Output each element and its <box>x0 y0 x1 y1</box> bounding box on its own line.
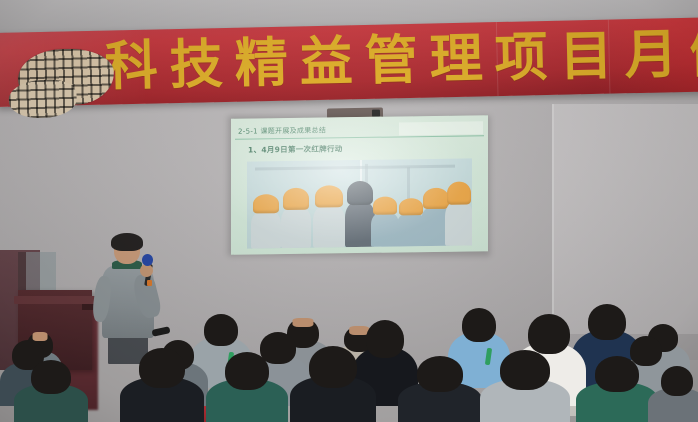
hard-hat-icon <box>347 181 373 205</box>
audience <box>0 300 698 422</box>
slide-worker-body <box>371 212 399 246</box>
hard-hat-icon <box>399 198 423 216</box>
audience-member <box>120 348 204 422</box>
audience-head <box>139 348 185 388</box>
slide-worker-body <box>313 205 345 248</box>
hard-hat-icon <box>253 194 279 214</box>
audience-head <box>417 356 463 392</box>
audience-member <box>206 352 288 422</box>
audience-head <box>528 314 570 354</box>
audience-head <box>595 356 639 392</box>
hard-hat-icon <box>283 188 309 210</box>
microphone-tip <box>147 280 152 286</box>
audience-member <box>648 366 698 422</box>
slide-title: 2-5-1 课题开展及成果总结 <box>238 124 326 137</box>
audience-head <box>500 350 550 390</box>
slide-worker-body <box>281 207 311 248</box>
audience-head <box>309 346 357 388</box>
audience-head <box>225 352 269 390</box>
slide: 2-5-1 课题开展及成果总结 1、4月9日第一次红牌行动 <box>231 115 488 255</box>
slide-subtitle: 1、4月9日第一次红牌行动 <box>248 143 343 156</box>
hard-hat-icon <box>315 185 343 208</box>
audience-member <box>480 350 570 422</box>
slide-worker <box>315 185 343 247</box>
audience-member <box>290 346 376 422</box>
audience-head <box>204 314 238 346</box>
hard-hat-icon <box>373 196 397 214</box>
slide-worker <box>447 181 471 245</box>
slide-worker <box>283 188 309 248</box>
slide-title-box <box>399 121 483 135</box>
banner-title: 科技精益管理项目月例会 <box>104 18 698 104</box>
audience-head <box>661 366 693 396</box>
slide-worker <box>373 196 397 246</box>
audience-member <box>398 356 482 422</box>
slide-worker-body <box>445 202 472 246</box>
audience-head <box>31 360 71 394</box>
audience-head <box>588 304 626 340</box>
slide-worker <box>399 198 423 246</box>
audience-member <box>576 356 658 422</box>
meeting-photo: 科技精益管理项目月例会 2-5-1 课题开展及成果总结 1、4月9日第一次红牌行… <box>0 0 698 422</box>
hard-hat-icon <box>447 181 471 204</box>
slide-worker <box>253 194 279 248</box>
projection-screen: 2-5-1 课题开展及成果总结 1、4月9日第一次红牌行动 <box>231 115 488 255</box>
pipe <box>255 165 455 171</box>
slide-worker-body <box>251 211 281 248</box>
microphone-icon <box>142 254 153 266</box>
slide-photo <box>247 158 472 248</box>
hard-hat-icon <box>423 188 449 209</box>
presenter-hair <box>111 233 143 251</box>
audience-head <box>462 308 496 342</box>
slide-worker <box>347 181 373 247</box>
audience-member <box>14 360 88 422</box>
